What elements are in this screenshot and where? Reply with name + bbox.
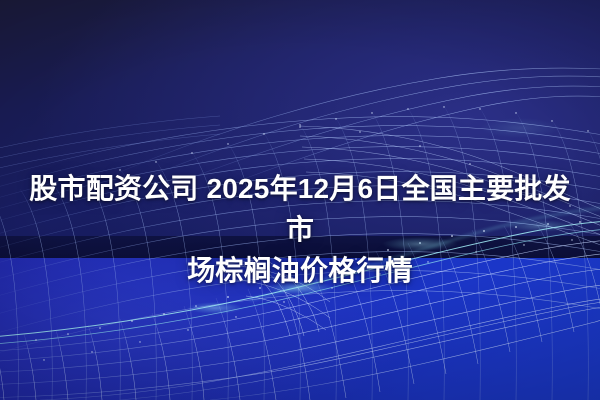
banner-image: 股市配资公司 2025年12月6日全国主要批发市 场棕榈油价格行情 — [0, 0, 600, 400]
page-title: 股市配资公司 2025年12月6日全国主要批发市 场棕榈油价格行情 — [0, 168, 600, 291]
